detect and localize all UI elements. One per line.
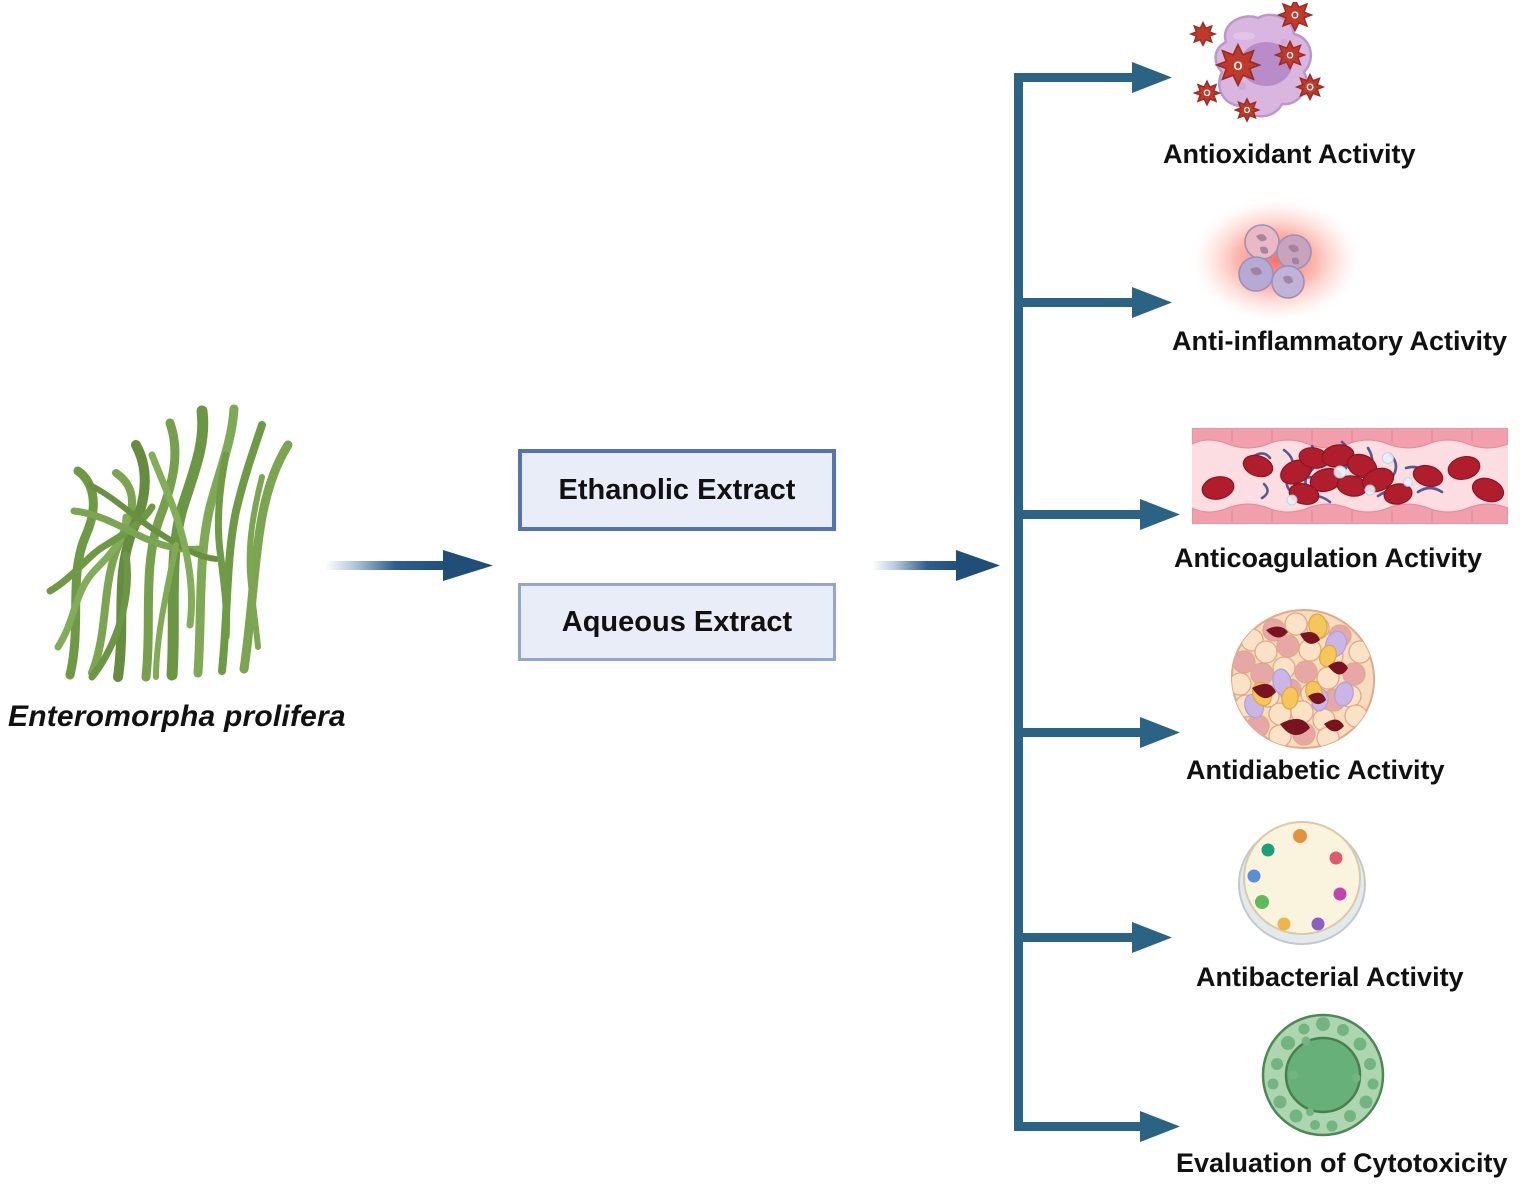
svg-text:O: O — [1286, 51, 1293, 61]
inflammation-cells-icon — [1188, 196, 1368, 326]
activity-label-cytotoxicity: Evaluation of Cytotoxicity — [1176, 1148, 1508, 1179]
workflow-diagram: Enteromorpha prolifera — [0, 0, 1524, 1185]
antioxidant-cell-icon: O O O O — [1180, 2, 1340, 142]
svg-text:O: O — [1306, 82, 1314, 93]
branch-connector — [1000, 55, 1190, 1145]
pancreatic-islet-icon — [1224, 604, 1384, 754]
arrow-extract-to-activities — [872, 548, 1002, 582]
svg-text:O: O — [1233, 60, 1242, 73]
svg-text:O: O — [1291, 11, 1299, 22]
svg-text:O: O — [1203, 88, 1210, 98]
blood-vessel-clot-icon — [1192, 428, 1508, 524]
activity-label-anticoagulation: Anticoagulation Activity — [1174, 543, 1482, 574]
green-cell-icon — [1260, 1012, 1386, 1138]
petri-dish-icon — [1232, 812, 1372, 946]
extract-box-ethanolic[interactable]: Ethanolic Extract — [518, 449, 836, 531]
svg-text:O: O — [1244, 105, 1251, 115]
activity-label-antidiabetic: Antidiabetic Activity — [1186, 755, 1445, 786]
extract-label-aqueous: Aqueous Extract — [562, 606, 792, 639]
extract-box-aqueous[interactable]: Aqueous Extract — [518, 583, 836, 661]
activity-label-anti-inflammatory: Anti-inflammatory Activity — [1172, 326, 1507, 357]
arrow-source-to-extract — [325, 548, 495, 582]
activity-label-antibacterial: Antibacterial Activity — [1196, 962, 1464, 993]
species-name-label: Enteromorpha prolifera — [8, 700, 428, 734]
extract-label-ethanolic: Ethanolic Extract — [559, 474, 796, 507]
green-algae-illustration — [30, 385, 360, 685]
activity-label-antioxidant: Antioxidant Activity — [1163, 139, 1416, 170]
